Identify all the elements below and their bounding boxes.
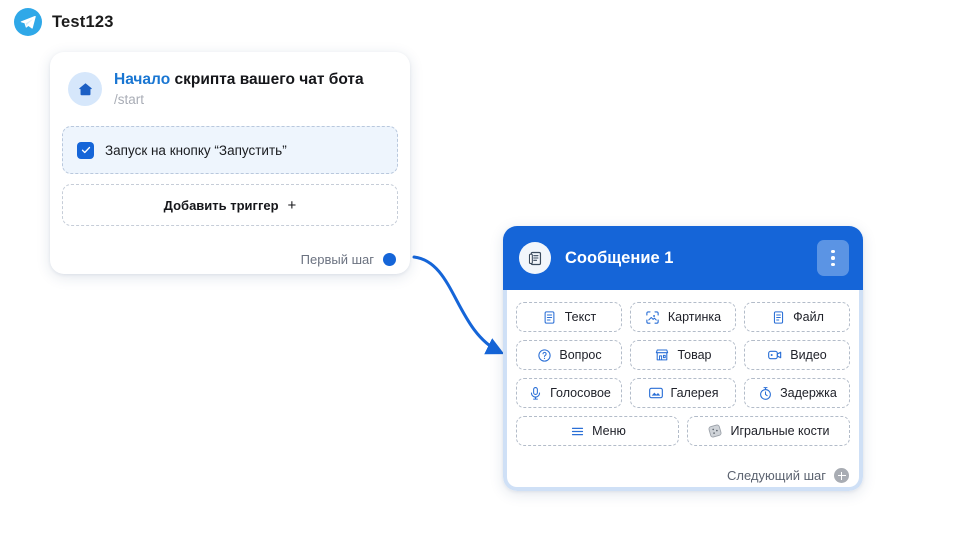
home-icon xyxy=(68,72,102,106)
text-document-icon xyxy=(542,309,558,325)
next-step-port[interactable]: Следующий шаг xyxy=(727,468,849,483)
dice-icon xyxy=(707,423,723,439)
first-step-label: Первый шаг xyxy=(301,252,374,267)
chip-label: Игральные кости xyxy=(730,424,829,438)
kebab-dot xyxy=(831,250,835,254)
chip-text[interactable]: Текст xyxy=(516,302,622,332)
message-card-header: Сообщение 1 xyxy=(503,226,863,290)
plus-icon: + xyxy=(288,198,297,213)
start-command-label: /start xyxy=(114,91,364,109)
trigger-checkbox[interactable] xyxy=(77,142,94,159)
trigger-item[interactable]: Запуск на кнопку “Запустить” xyxy=(62,126,398,174)
chip-question[interactable]: Вопрос xyxy=(516,340,622,370)
content-type-row: Текст Картинка xyxy=(516,302,850,332)
question-circle-icon xyxy=(536,347,552,363)
content-type-row: Голосовое Галерея xyxy=(516,378,850,408)
chip-label: Голосовое xyxy=(550,386,611,400)
content-type-row: Вопрос Товар xyxy=(516,340,850,370)
port-dot-icon[interactable] xyxy=(383,253,396,266)
image-frame-icon xyxy=(645,309,661,325)
message-step-card[interactable]: Сообщение 1 Текст xyxy=(503,226,863,491)
storefront-icon xyxy=(654,347,670,363)
hamburger-menu-icon xyxy=(569,423,585,439)
kebab-menu-icon[interactable] xyxy=(817,240,849,276)
chip-label: Меню xyxy=(592,424,626,438)
chip-video[interactable]: Видео xyxy=(744,340,850,370)
kebab-dot xyxy=(831,263,835,267)
chip-file[interactable]: Файл xyxy=(744,302,850,332)
trigger-label: Запуск на кнопку “Запустить” xyxy=(105,143,287,158)
bot-title: Test123 xyxy=(14,8,114,36)
start-step-card[interactable]: Начало скрипта вашего чат бота /start За… xyxy=(50,52,410,274)
start-title-accent: Начало xyxy=(114,71,170,88)
first-step-port[interactable]: Первый шаг xyxy=(301,252,396,267)
kebab-dot xyxy=(831,256,835,260)
chip-label: Вопрос xyxy=(559,348,601,362)
next-step-label: Следующий шаг xyxy=(727,468,826,483)
start-card-title: Начало скрипта вашего чат бота xyxy=(114,70,364,90)
chip-image[interactable]: Картинка xyxy=(630,302,736,332)
chip-gallery[interactable]: Галерея xyxy=(630,378,736,408)
chip-label: Видео xyxy=(790,348,827,362)
chip-label: Файл xyxy=(793,310,824,324)
content-type-row: Меню Игральные кости xyxy=(516,416,850,446)
message-document-icon xyxy=(519,242,551,274)
chip-product[interactable]: Товар xyxy=(630,340,736,370)
start-title-rest: скрипта вашего чат бота xyxy=(170,71,363,88)
microphone-icon xyxy=(527,385,543,401)
chip-label: Картинка xyxy=(668,310,721,324)
chip-dice[interactable]: Игральные кости xyxy=(687,416,850,446)
chip-label: Галерея xyxy=(671,386,719,400)
start-card-header: Начало скрипта вашего чат бота /start xyxy=(50,52,410,109)
message-card-title: Сообщение 1 xyxy=(565,249,817,268)
chip-delay[interactable]: Задержка xyxy=(744,378,850,408)
message-card-body: Текст Картинка xyxy=(503,290,863,491)
add-trigger-label: Добавить триггер xyxy=(164,198,279,213)
file-icon xyxy=(770,309,786,325)
chip-label: Товар xyxy=(677,348,711,362)
bot-name-label: Test123 xyxy=(52,13,114,32)
telegram-icon xyxy=(14,8,42,36)
video-camera-icon xyxy=(767,347,783,363)
add-trigger-button[interactable]: Добавить триггер + xyxy=(62,184,398,226)
chip-menu[interactable]: Меню xyxy=(516,416,679,446)
chip-label: Задержка xyxy=(780,386,837,400)
gallery-icon xyxy=(648,385,664,401)
stopwatch-icon xyxy=(757,385,773,401)
chip-label: Текст xyxy=(565,310,596,324)
flow-canvas: Test123 Начало скрипта вашего чат бота /… xyxy=(0,0,974,556)
plus-circle-icon[interactable] xyxy=(834,468,849,483)
chip-voice[interactable]: Голосовое xyxy=(516,378,622,408)
